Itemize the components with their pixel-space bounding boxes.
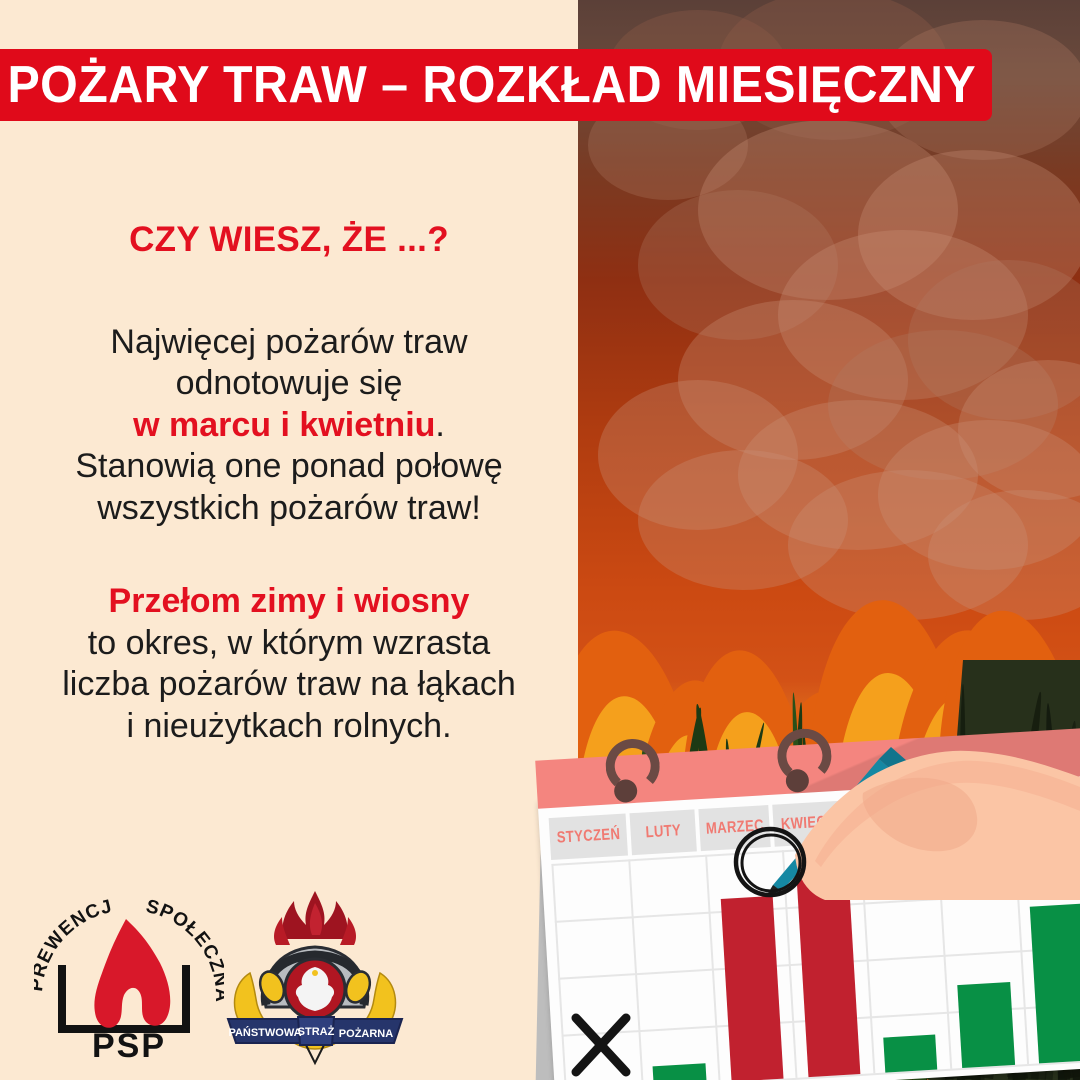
emblem-banner-center: STRAŻ [298, 1025, 335, 1038]
fire-service-emblem: PAŃSTWOWA STRAŻ POŻARNA [220, 887, 410, 1067]
p2-line-4: i nieużytkach rolnych. [0, 706, 578, 747]
bar-lipiec [1030, 904, 1080, 1064]
p2-highlight: Przełom zimy i wiosny [0, 581, 578, 622]
p2-line-2: to okres, w którym wzrasta [0, 623, 578, 664]
kicker-text: CZY WIESZ, ŻE ...? [0, 220, 578, 260]
title-banner: POŻARY TRAW – ROZKŁAD MIESIĘCZNY [0, 49, 992, 121]
hand-drawn-x-annotation [566, 1010, 636, 1080]
bar-maj [883, 1035, 937, 1073]
paragraph-2: Przełom zimy i wiosny to okres, w którym… [0, 581, 578, 747]
month-cell-styczeń[interactable]: STYCZEŃ [549, 813, 629, 860]
p1-line-4: Stanowią one ponad połowę [0, 446, 578, 487]
bar-czerwiec [957, 982, 1014, 1068]
p1-line-2: odnotowuje się [0, 363, 578, 404]
p1-line-3: w marcu i kwietniu. [0, 405, 578, 446]
body-copy: CZY WIESZ, ŻE ...? Najwięcej pożarów tra… [0, 220, 578, 747]
emblem-flames-icon [274, 891, 356, 945]
psp-acronym: PSP [92, 1027, 166, 1064]
emblem-banner-left: PAŃSTWOWA [228, 1026, 301, 1039]
page-title: POŻARY TRAW – ROZKŁAD MIESIĘCZNY [8, 55, 977, 115]
p2-line-3: liczba pożarów traw na łąkach [0, 664, 578, 705]
p1-highlight-tail: . [435, 406, 444, 444]
p1-highlight: w marcu i kwietniu [133, 406, 435, 444]
month-cell-luty[interactable]: LUTY [630, 809, 696, 855]
p1-line-1: Najwięcej pożarów traw [0, 322, 578, 363]
month-label: STYCZEŃ [556, 826, 620, 848]
flame-icon [94, 919, 170, 1028]
month-label: LUTY [645, 822, 682, 842]
paragraph-1: Najwięcej pożarów traw odnotowuje się w … [0, 322, 578, 529]
p1-line-5: wszystkich pożarów traw! [0, 488, 578, 529]
hand-drawn-circle-annotation [731, 823, 809, 901]
prevention-psp-logo: PREWENCJA SPOŁECZNA PSP [34, 899, 224, 1064]
bar-marzec [720, 896, 783, 1080]
infographic-canvas: POŻARY TRAW – ROZKŁAD MIESIĘCZNY CZY WIE… [0, 0, 1080, 1080]
bar-luty [653, 1064, 707, 1080]
emblem-banner-right: POŻARNA [339, 1027, 393, 1040]
emblem-banner: PAŃSTWOWA STRAŻ POŻARNA [228, 1017, 402, 1045]
logo-row: PREWENCJA SPOŁECZNA PSP [34, 887, 434, 1072]
